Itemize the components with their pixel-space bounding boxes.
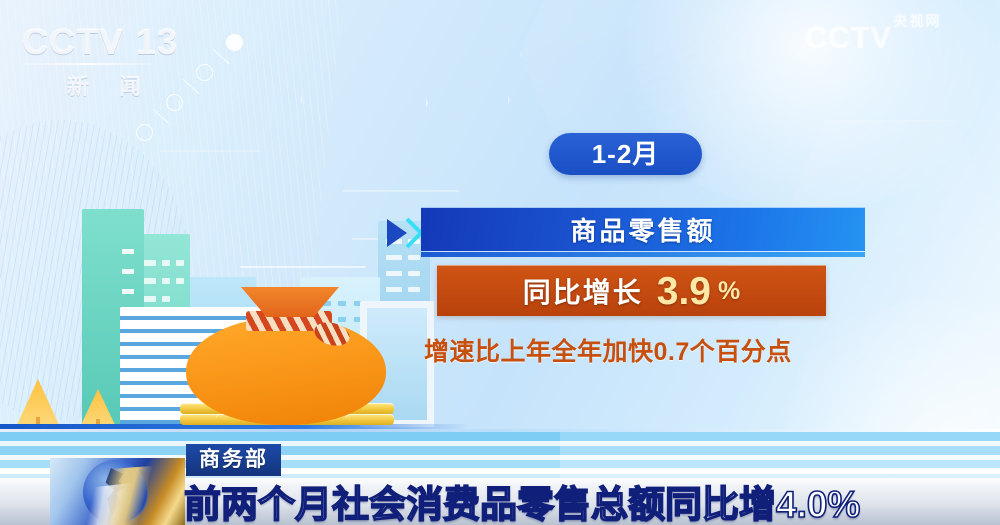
cctv-logo-number: 13: [136, 24, 178, 60]
lower-third-stripes-right: [560, 430, 1000, 479]
cctv-logo-slash: [124, 25, 134, 59]
tree-left: [16, 369, 60, 427]
period-badge: 1-2月: [549, 133, 702, 175]
source-tag-label: 商务部: [199, 448, 268, 471]
money-bag-illustration: [186, 285, 386, 425]
cctv13-logo: CCTV 13 新 闻: [22, 24, 172, 94]
period-badge-label: 1-2月: [592, 141, 660, 167]
growth-metric-bar: 同比增长 3.9 %: [437, 265, 826, 316]
metric-title-bar-underline: [421, 252, 865, 257]
tree-right: [80, 381, 116, 427]
play-arrow-icon: [385, 217, 425, 249]
headline: 前两个月社会消费品零售总额同比增4.0%: [184, 478, 860, 524]
watermark-text: CCTV: [805, 22, 891, 53]
lower-third-banner: 商务部 前两个月社会消费品零售总额同比增4.0%: [0, 430, 1000, 525]
cctv-com-watermark: CCTV 央视网: [805, 8, 990, 66]
watermark-suffix: 央视网: [893, 8, 941, 28]
metric-title-label: 商品零售额: [570, 211, 715, 248]
cctv-logo-underline: [22, 63, 154, 65]
broadcast-frame: CCTV 13 新 闻 CCTV 央视网: [0, 0, 1000, 525]
money-bag-body: [186, 317, 386, 425]
growth-unit: %: [718, 277, 740, 306]
globe-graphic: [50, 458, 185, 525]
metric-title-bar-group: 商品零售额: [385, 207, 865, 257]
cctv-logo-text: CCTV: [22, 24, 124, 60]
growth-value: 3.9: [657, 272, 711, 311]
growth-label: 同比增长: [523, 271, 643, 311]
source-tag: 商务部: [186, 444, 281, 476]
growth-note: 增速比上年全年加快0.7个百分点: [424, 333, 844, 367]
metric-title-bar: 商品零售额: [421, 207, 865, 251]
